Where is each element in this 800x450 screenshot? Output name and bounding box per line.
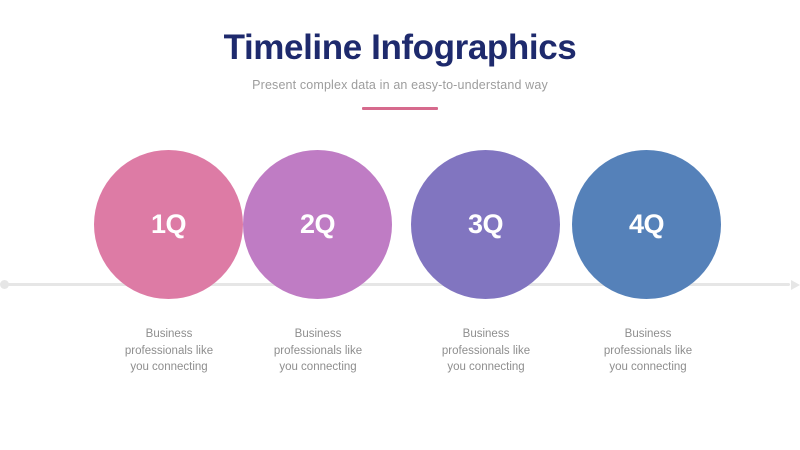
caption-line: you connecting	[238, 359, 398, 376]
caption-line: Business	[568, 326, 728, 343]
page-title: Timeline Infographics	[0, 0, 800, 67]
step-caption-1: Business professionals like you connecti…	[89, 326, 249, 376]
step-caption-3: Business professionals like you connecti…	[406, 326, 566, 376]
timeline-step-3[interactable]: 3Q	[411, 150, 561, 300]
step-circle-3[interactable]: 3Q	[411, 150, 560, 299]
caption-line: professionals like	[89, 343, 249, 360]
step-label-3: 3Q	[468, 209, 503, 240]
slide-header: Timeline Infographics Present complex da…	[0, 0, 800, 110]
timeline-steps: 1Q 2Q 3Q 4Q	[0, 150, 800, 300]
timeline-step-4[interactable]: 4Q	[572, 150, 722, 300]
caption-line: professionals like	[568, 343, 728, 360]
timeline-captions: Business professionals like you connecti…	[0, 326, 800, 386]
step-circle-4[interactable]: 4Q	[572, 150, 721, 299]
caption-line: you connecting	[89, 359, 249, 376]
accent-divider	[362, 107, 438, 110]
caption-line: Business	[89, 326, 249, 343]
step-circle-2[interactable]: 2Q	[243, 150, 392, 299]
slide-canvas: Timeline Infographics Present complex da…	[0, 0, 800, 450]
step-caption-2: Business professionals like you connecti…	[238, 326, 398, 376]
step-label-1: 1Q	[151, 209, 186, 240]
timeline-step-1[interactable]: 1Q	[94, 150, 244, 300]
caption-line: professionals like	[238, 343, 398, 360]
timeline-step-2[interactable]: 2Q	[243, 150, 393, 300]
caption-line: you connecting	[406, 359, 566, 376]
step-label-2: 2Q	[300, 209, 335, 240]
caption-line: Business	[406, 326, 566, 343]
step-caption-4: Business professionals like you connecti…	[568, 326, 728, 376]
page-subtitle: Present complex data in an easy-to-under…	[0, 67, 800, 92]
step-label-4: 4Q	[629, 209, 664, 240]
caption-line: professionals like	[406, 343, 566, 360]
caption-line: Business	[238, 326, 398, 343]
caption-line: you connecting	[568, 359, 728, 376]
step-circle-1[interactable]: 1Q	[94, 150, 243, 299]
